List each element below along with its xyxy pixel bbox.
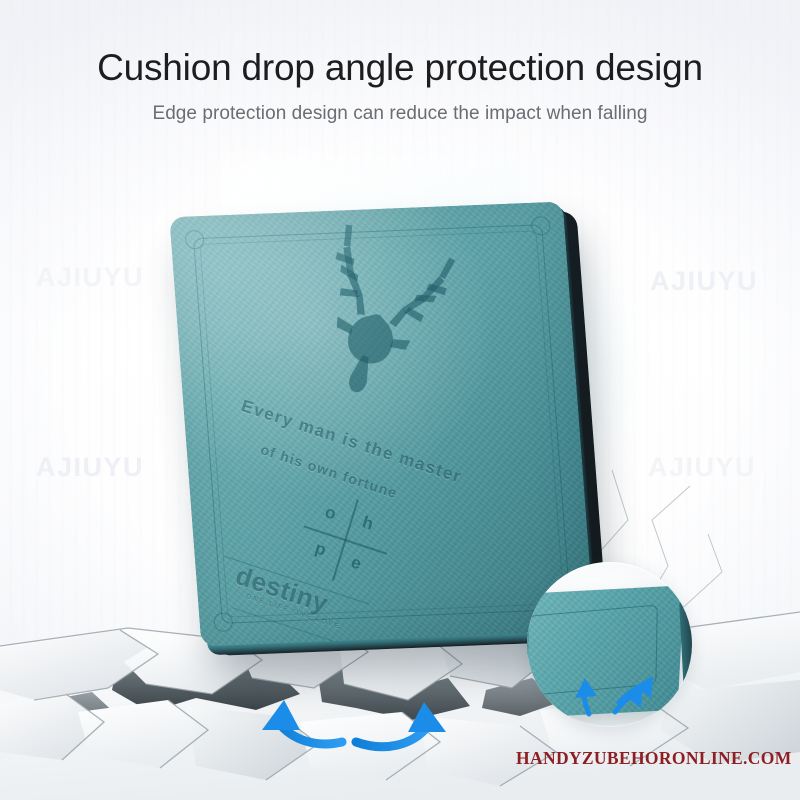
inset-impact-arrows <box>527 562 692 727</box>
page-title: Cushion drop angle protection design <box>0 46 800 90</box>
impact-arrow-left <box>262 700 342 744</box>
corner-detail-inset <box>527 562 692 727</box>
page-subtitle: Edge protection design can reduce the im… <box>0 101 800 126</box>
site-watermark: HANDYZUBEHORONLINE.COM <box>516 748 792 769</box>
impact-arrow-right <box>356 702 446 747</box>
product-marketing-image: AJIUYU AJIUYU AJIUYU AJIUYU Cushion drop… <box>0 0 800 800</box>
headline-block: Cushion drop angle protection design Edg… <box>0 46 800 126</box>
